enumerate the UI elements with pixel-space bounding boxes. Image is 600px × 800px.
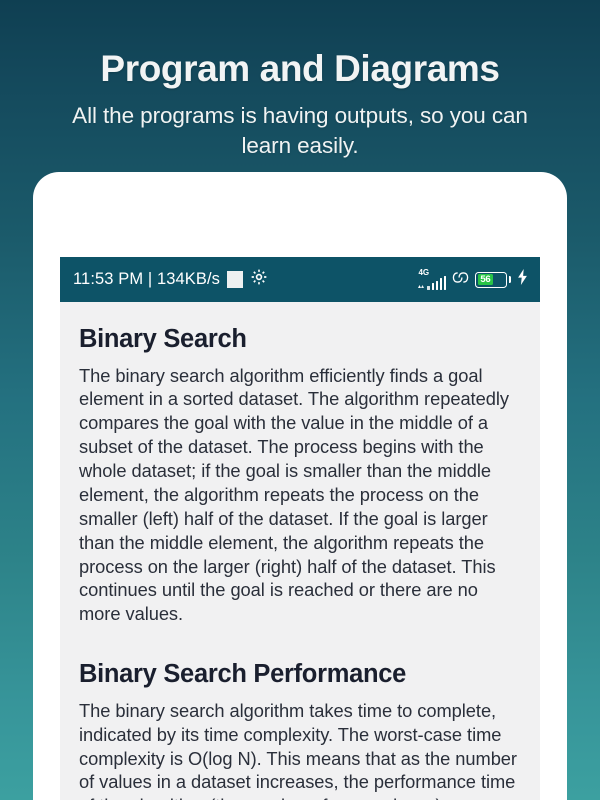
signal-strength-bars — [427, 276, 446, 290]
charging-bolt-icon — [517, 269, 528, 290]
status-bar-left: 11:53 PM | 134KB/s — [73, 268, 268, 291]
promo-subtitle: All the programs is having outputs, so y… — [0, 101, 600, 160]
gear-icon[interactable] — [250, 268, 268, 291]
status-bar-right: 4G — [418, 269, 528, 291]
phone-frame: 11:53 PM | 134KB/s 4G — [33, 172, 567, 800]
phone-screen: 11:53 PM | 134KB/s 4G — [60, 257, 540, 800]
section-heading-binary-search-performance: Binary Search Performance — [79, 659, 521, 690]
sync-loop-icon — [452, 269, 469, 291]
status-bar: 11:53 PM | 134KB/s 4G — [60, 257, 540, 302]
signal-bars-icon: 4G — [418, 270, 446, 290]
status-clock-label: 11:53 PM | 134KB/s — [73, 270, 220, 289]
section-body-binary-search-performance: The binary search algorithm takes time t… — [79, 699, 521, 800]
promo-title: Program and Diagrams — [0, 48, 600, 89]
network-type-label: 4G — [418, 269, 429, 277]
white-square-icon — [227, 271, 243, 288]
section-body-binary-search: The binary search algorithm efficiently … — [79, 364, 521, 627]
promo-header: Program and Diagrams All the programs is… — [0, 0, 600, 161]
battery-icon: 56 — [475, 272, 511, 288]
section-heading-binary-search: Binary Search — [79, 324, 521, 355]
article-content: Binary Search The binary search algorith… — [60, 302, 540, 800]
battery-percent-label: 56 — [480, 275, 490, 285]
